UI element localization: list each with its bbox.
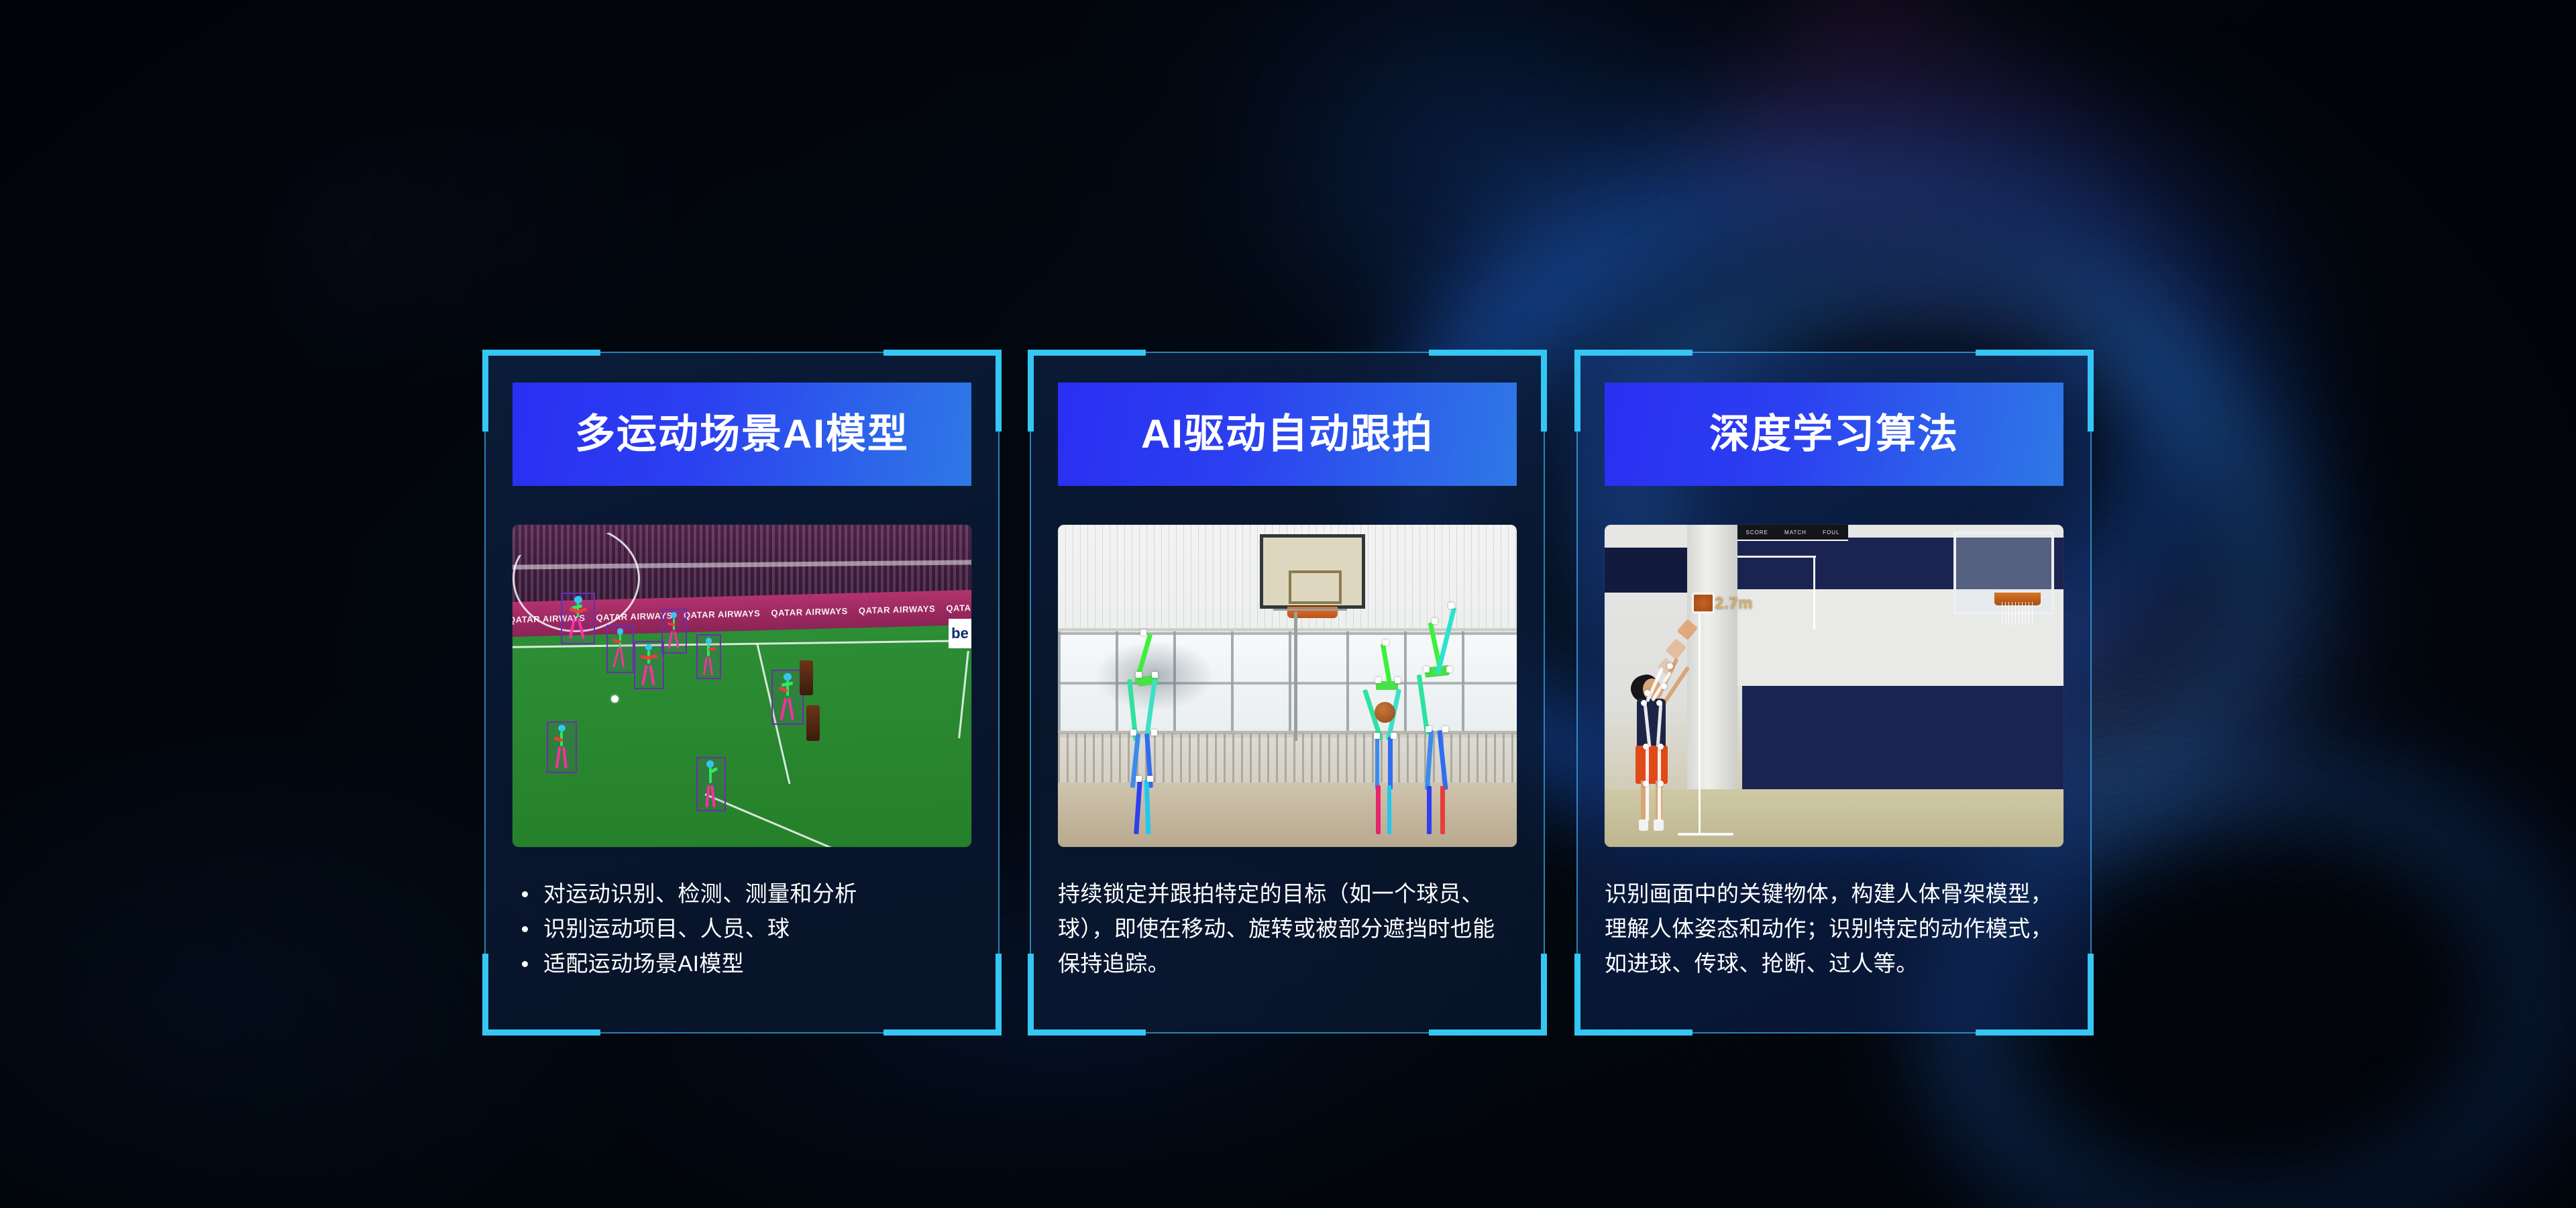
pose-skeleton xyxy=(773,671,802,723)
card-title: AI驱动自动跟拍 xyxy=(1141,414,1434,454)
ad-text: QATAR AIRWAYS xyxy=(859,603,935,615)
list-item: 识别运动项目、人员、球 xyxy=(513,911,971,946)
soccer-pitch: QATAR AIRWAYS QATAR AIRWAYS QATAR AIRWAY… xyxy=(513,525,971,847)
card-title: 深度学习算法 xyxy=(1709,414,1959,454)
card-body: 对运动识别、检测、测量和分析 识别运动项目、人员、球 适配运动场景AI模型 xyxy=(513,876,971,981)
card-header-bar: 多运动场景AI模型 xyxy=(513,383,971,486)
skeleton-bone xyxy=(1646,784,1649,821)
measurement-value-label: 2.7m xyxy=(1715,594,1753,613)
basketball-shooter xyxy=(1627,663,1687,831)
detection-box xyxy=(696,634,722,679)
corner-bracket-bottom-right-icon xyxy=(2088,954,2094,1036)
pose-skeleton xyxy=(698,636,720,678)
slide-canvas: 多运动场景AI模型 QATAR AIRWAYS QATAR AIRWAYS QA… xyxy=(0,0,2576,1208)
card-body: 持续锁定并跟拍特定的目标（如一个球员、球），即使在移动、旋转或被部分遮挡时也能保… xyxy=(1058,876,1517,981)
corner-bracket-bottom-left-icon xyxy=(1574,954,1580,1036)
card-thumbnail-gym-pose-tracking[interactable] xyxy=(1058,525,1517,847)
feature-card-ai-auto-tracking[interactable]: AI驱动自动跟拍 xyxy=(1030,352,1545,1034)
corner-bracket-bottom-right-icon xyxy=(883,1029,1002,1036)
corner-bracket-bottom-right-icon xyxy=(1976,1029,2094,1036)
pose-skeleton xyxy=(562,594,594,643)
card-header-bar: AI驱动自动跟拍 xyxy=(1058,383,1517,486)
hoop-brace xyxy=(1273,609,1346,628)
card-title: 多运动场景AI模型 xyxy=(575,414,909,454)
gym-scene xyxy=(1058,525,1517,847)
pose-skeleton xyxy=(635,642,662,688)
measurement-drop-line xyxy=(1699,609,1701,834)
detection-box xyxy=(696,757,726,812)
feature-card-deep-learning-algorithm[interactable]: 深度学习算法 SCORE MATCH FOUL xyxy=(1576,352,2092,1034)
gym-court-scene: SCORE MATCH FOUL 2.7m xyxy=(1605,525,2063,847)
feature-card-multi-sport-ai-model[interactable]: 多运动场景AI模型 QATAR AIRWAYS QATAR AIRWAYS QA… xyxy=(484,352,1000,1034)
corner-bracket-top-left-icon xyxy=(1574,350,1580,432)
hoop-support-pole xyxy=(1294,612,1297,741)
non-detected-player xyxy=(806,705,820,741)
ball-tracking-box xyxy=(1692,593,1715,613)
corner-bracket-top-left-icon xyxy=(1028,350,1034,432)
ad-text: QATAR AIRWAYS xyxy=(771,605,847,617)
pitch-line xyxy=(958,651,969,738)
wall-pad-lower xyxy=(1742,686,2063,789)
corner-bracket-bottom-right-icon xyxy=(996,954,1002,1036)
corner-bracket-top-left-icon xyxy=(1028,350,1146,356)
corner-bracket-top-right-icon xyxy=(2088,350,2094,432)
corner-bracket-top-right-icon xyxy=(1976,350,2094,356)
pose-skeleton xyxy=(663,610,686,652)
corner-bracket-top-left-icon xyxy=(482,350,488,432)
card-body: 识别画面中的关键物体，构建人体骨架模型，理解人体姿态和动作；识别特定的动作模式，… xyxy=(1605,876,2063,981)
corner-bracket-bottom-left-icon xyxy=(1028,1029,1146,1036)
measurement-guide-horizontal xyxy=(1737,556,1815,558)
corner-bracket-top-right-icon xyxy=(883,350,1002,356)
corner-bracket-top-left-icon xyxy=(1574,350,1693,356)
corner-bracket-bottom-left-icon xyxy=(482,1029,600,1036)
measurement-ground-marker xyxy=(1678,833,1733,836)
corner-bracket-bottom-left-icon xyxy=(482,954,488,1036)
skeleton-keypoint xyxy=(1658,744,1664,750)
player-shorts xyxy=(1635,746,1668,784)
detection-box xyxy=(561,593,595,644)
pose-skeleton xyxy=(698,758,724,811)
pose-skeleton xyxy=(1118,641,1177,834)
ad-text: QATAR AIRWAYS xyxy=(946,601,971,613)
pose-skeleton xyxy=(548,723,575,772)
scoreboard-label: FOUL xyxy=(1823,530,1839,536)
card-header-bar: 深度学习算法 xyxy=(1605,383,2063,486)
corner-bracket-bottom-left-icon xyxy=(1028,954,1034,1036)
list-item: 适配运动场景AI模型 xyxy=(513,946,971,981)
card-thumbnail-shot-measurement[interactable]: SCORE MATCH FOUL 2.7m xyxy=(1605,525,2063,847)
feature-bullet-list: 对运动识别、检测、测量和分析 识别运动项目、人员、球 适配运动场景AI模型 xyxy=(513,876,971,981)
feature-description: 持续锁定并跟拍特定的目标（如一个球员、球），即使在移动、旋转或被部分遮挡时也能保… xyxy=(1058,876,1517,981)
corner-bracket-bottom-right-icon xyxy=(1429,1029,1547,1036)
player-shoe xyxy=(1654,819,1663,831)
card-thumbnail-soccer-detection[interactable]: QATAR AIRWAYS QATAR AIRWAYS QATAR AIRWAY… xyxy=(513,525,971,847)
skeleton-keypoint xyxy=(1658,781,1664,787)
skeleton-keypoint xyxy=(1661,683,1667,689)
skeleton-bone xyxy=(1658,784,1661,821)
corner-bracket-top-right-icon xyxy=(1541,350,1547,432)
corner-bracket-top-right-icon xyxy=(1429,350,1547,356)
broadcast-badge: be xyxy=(949,619,971,648)
pitch-line xyxy=(705,793,968,847)
measurement-guide-vertical xyxy=(1813,556,1815,630)
feature-description: 识别画面中的关键物体，构建人体骨架模型，理解人体姿态和动作；识别特定的动作模式，… xyxy=(1605,876,2063,981)
skeleton-keypoint xyxy=(1641,700,1647,706)
corner-bracket-top-right-icon xyxy=(996,350,1002,432)
basketball-net xyxy=(2002,602,2034,625)
detection-box xyxy=(634,641,663,689)
basketball-backboard xyxy=(1260,534,1365,608)
pose-skeleton xyxy=(608,626,633,672)
soccer-ball xyxy=(611,695,619,703)
wall-column xyxy=(1687,525,1737,799)
scoreboard-label: SCORE xyxy=(1746,530,1768,536)
ball-trail xyxy=(1665,638,1686,660)
scoreboard-label: MATCH xyxy=(1784,530,1807,536)
corner-bracket-bottom-right-icon xyxy=(1541,954,1547,1036)
list-item: 对运动识别、检测、测量和分析 xyxy=(513,876,971,911)
detection-box xyxy=(547,721,576,773)
corner-bracket-top-left-icon xyxy=(482,350,600,356)
player-shoe xyxy=(1639,819,1648,831)
ad-text: QATAR AIRWAYS xyxy=(684,608,760,620)
scoreboard: SCORE MATCH FOUL xyxy=(1737,525,1847,541)
basketball xyxy=(1375,702,1395,723)
detection-box xyxy=(606,625,634,673)
detection-box xyxy=(661,609,687,654)
non-detected-player xyxy=(800,660,814,696)
corner-bracket-bottom-left-icon xyxy=(1574,1029,1693,1036)
pose-skeleton xyxy=(1407,634,1466,834)
